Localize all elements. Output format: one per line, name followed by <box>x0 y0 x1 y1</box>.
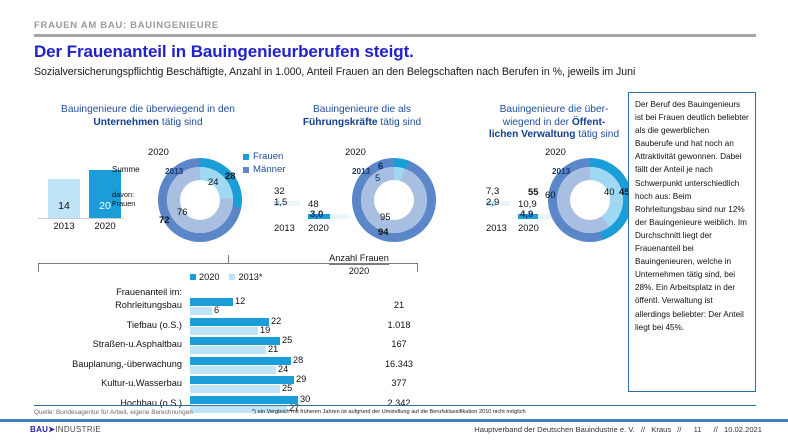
chart3-frauen-2020: 4,9 <box>520 209 533 220</box>
chart2-row-2020: 48 3,0 <box>274 211 348 222</box>
bottom-legend-2020: 2020 <box>190 272 219 282</box>
page-subtitle: Sozialversicherungspflichtig Beschäftigt… <box>34 66 635 78</box>
chart2-donut-2020-maenner: 94 <box>378 226 388 237</box>
legend-swatch-frauen <box>243 154 249 160</box>
legend-label-frauen: Frauen <box>253 150 283 163</box>
bar-2013 <box>190 307 212 315</box>
value-2020: 25 <box>282 335 292 345</box>
source-note: Quelle: Bundesagentur für Arbeit, eigene… <box>34 409 193 416</box>
panel3-line3: tätig sind <box>576 129 620 140</box>
value-2013: 6 <box>214 305 219 315</box>
table-row: Bauplanung,-überwachung282416.343 <box>40 356 420 376</box>
bar-2020 <box>190 337 280 345</box>
chart3-xlabel-2020: 2020 <box>518 222 539 233</box>
bar-2020 <box>190 376 294 384</box>
value-2020: 29 <box>296 374 306 384</box>
anzahl-header-year: 2020 <box>300 266 418 276</box>
row-category: Bauplanung,-überwachung <box>40 359 182 369</box>
anzahl-frauen-header: Anzahl Frauen 2020 <box>300 253 418 276</box>
chart2-frauen-2013: 1,5 <box>274 197 287 208</box>
anzahl-frauen-value: 167 <box>340 339 458 349</box>
value-2020: 28 <box>293 355 303 365</box>
footer-meta: Hauptverband der Deutschen Bauindustrie … <box>472 425 764 434</box>
panel-title-verwaltung: Bauingenieure die über- wiegend in der Ö… <box>470 104 638 142</box>
table-row: Tiefbau (o.S.)22191.018 <box>40 317 420 337</box>
chart3-sum-2013: 7,3 <box>486 186 499 197</box>
chart2-donut-2013-frauen: 5 <box>375 172 380 183</box>
bottom-legend-label-2020: 2020 <box>199 272 219 282</box>
panel2-strong: Führungskräfte <box>303 117 378 128</box>
chart3-donut-2020-maenner: 55 <box>528 186 538 197</box>
bracket-mid-tick <box>228 255 229 264</box>
legend-swatch-maenner <box>243 167 249 173</box>
footer-sep2: // <box>677 425 681 434</box>
legend-item-frauen: Frauen <box>243 150 286 163</box>
chart1-xlabel-2020: 2020 <box>86 221 124 232</box>
row-category: Hochbau (o.S.) <box>40 398 182 408</box>
bottom-legend-2013: 2013* <box>229 272 262 282</box>
annotation-davon: davon: Frauen <box>112 191 135 208</box>
legend-item-maenner: Männer <box>243 163 286 176</box>
row-category: Straßen-u.Asphaltbau <box>40 339 182 349</box>
footer-author: Kraus <box>651 425 671 434</box>
panel2-line2: tätig sind <box>378 117 422 128</box>
footer-sep1: // <box>641 425 645 434</box>
chart2-xlabel-2020: 2020 <box>308 222 329 233</box>
footnote-note: *) ein Vergleich mit früheren Jahren ist… <box>252 409 526 415</box>
value-2013: 24 <box>278 364 288 374</box>
anzahl-frauen-value: 2.342 <box>340 398 458 408</box>
commentary-textbox: Der Beruf des Bauingenieurs ist bei Frau… <box>628 92 756 392</box>
chart2-donut-2013-maenner: 95 <box>380 211 390 222</box>
page-title: Der Frauenanteil in Bauingenieurberufen … <box>34 42 414 62</box>
chart1-xlabel-2013: 2013 <box>45 221 83 232</box>
panel-title-unternehmen: Bauingenieure die überwiegend in den Unt… <box>34 104 262 129</box>
chart1-donut-year-2020: 2020 <box>148 146 169 157</box>
bracket-left-tick <box>38 263 39 272</box>
bottom-legend-swatch-2020 <box>190 274 196 280</box>
chart2-xlabel-2013: 2013 <box>274 222 295 233</box>
bar-2020 <box>190 357 291 365</box>
slide: FRAUEN AM BAU: BAUINGENIEURE Der Frauena… <box>0 0 788 443</box>
bar-2013 <box>190 385 280 393</box>
value-2020: 12 <box>235 296 245 306</box>
chart2-frauen-2020: 3,0 <box>310 209 323 220</box>
table-row: Kultur-u.Wasserbau2925377 <box>40 375 420 395</box>
logo-rest-text: INDUSTRIE <box>55 425 101 434</box>
value-2020: 30 <box>300 394 310 404</box>
annotation-davon-frauen: Frauen <box>112 199 135 208</box>
bottom-legend-label-2013: 2013* <box>238 272 262 282</box>
chart1-donut-2013-maenner: 76 <box>177 206 187 217</box>
panel3-strong2: lichen Verwaltung <box>489 129 576 140</box>
bottom-legend-swatch-2013 <box>229 274 235 280</box>
row-category: Rohrleitungsbau <box>40 300 182 310</box>
chart3-donut-year-2020: 2020 <box>545 146 566 157</box>
anzahl-frauen-value: 377 <box>340 378 458 388</box>
value-2013: 21 <box>268 344 278 354</box>
chart3-xlabel-2013: 2013 <box>486 222 507 233</box>
bar-2020 <box>190 396 298 404</box>
value-2013: 25 <box>282 383 292 393</box>
anzahl-frauen-value: 21 <box>340 300 458 310</box>
chart1-donut-2020-maenner: 72 <box>159 214 169 225</box>
eyebrow-label: FRAUEN AM BAU: BAUINGENIEURE <box>34 20 219 31</box>
value-2013: 19 <box>260 325 270 335</box>
logo-bold-text: BAU <box>30 425 48 434</box>
bar-2020 <box>190 318 269 326</box>
panel1-line1: Bauingenieure die überwiegend in den <box>61 104 235 115</box>
panel1-line2: tätig sind <box>159 117 203 128</box>
footer-bar <box>0 419 788 422</box>
chart3-donut-2013-frauen: 40 <box>604 186 614 197</box>
row-category: Kultur-u.Wasserbau <box>40 378 182 388</box>
chart2-donut-2020-frauen: 6 <box>378 160 383 171</box>
footer-divider <box>34 405 756 406</box>
anzahl-frauen-value: 16.343 <box>340 359 458 369</box>
anzahl-frauen-value: 1.018 <box>340 320 458 330</box>
chart2-minibars: 32 1,5 48 3,0 <box>274 198 348 222</box>
panel3-strong: Öffent- <box>572 117 605 128</box>
chart1-donut-year-2013: 2013 <box>165 167 183 176</box>
footer-sep3: // <box>714 425 718 434</box>
panel3-line1: Bauingenieure die über- <box>500 104 609 115</box>
chart3-donut-2013-maenner: 60 <box>545 189 555 200</box>
chart1-frauen-2013: 14 <box>48 200 80 218</box>
panel2-line1: Bauingenieure die als <box>313 104 411 115</box>
chart1-donut-2013-frauen: 24 <box>208 176 218 187</box>
frauenanteil-row-title: Frauenanteil im: <box>40 287 182 297</box>
footer-date: 10.02.2021 <box>724 425 762 434</box>
table-row: Rohrleitungsbau12621 <box>40 297 420 317</box>
legend-label-maenner: Männer <box>253 163 286 176</box>
footer-org: Hauptverband der Deutschen Bauindustrie … <box>474 425 635 434</box>
row-category: Tiefbau (o.S.) <box>40 320 182 330</box>
value-2020: 22 <box>271 316 281 326</box>
annotation-summe: Summe <box>112 166 140 175</box>
anzahl-header-text: Anzahl Frauen <box>329 253 389 265</box>
table-row: Straßen-u.Asphaltbau2521167 <box>40 336 420 356</box>
footer-page-number: 11 <box>694 425 702 434</box>
bar-2013 <box>190 327 258 335</box>
chart2-donut-year-2013: 2013 <box>352 167 370 176</box>
brand-logo: BAU➤INDUSTRIE <box>30 425 101 434</box>
bar-2020 <box>190 298 233 306</box>
bar-2013 <box>190 366 276 374</box>
chart1-donut-2020-frauen: 28 <box>225 170 235 181</box>
header-divider <box>34 34 756 37</box>
chart1-legend: Frauen Männer <box>243 150 286 176</box>
panel1-strong: Unternehmen <box>93 117 159 128</box>
bottom-legend: 2020 2013* <box>190 272 262 282</box>
panel3-line2: wiegend in der <box>503 117 572 128</box>
chart3-frauen-2013: 2,9 <box>486 197 499 208</box>
chart3-donut-year-2013: 2013 <box>552 167 570 176</box>
panel-title-fuehrungskraefte: Bauingenieure die als Führungskräfte tät… <box>272 104 452 129</box>
chart2-sum-2013: 32 <box>274 186 285 197</box>
chart2-donut-year-2020: 2020 <box>345 146 366 157</box>
bar-2013 <box>190 346 266 354</box>
